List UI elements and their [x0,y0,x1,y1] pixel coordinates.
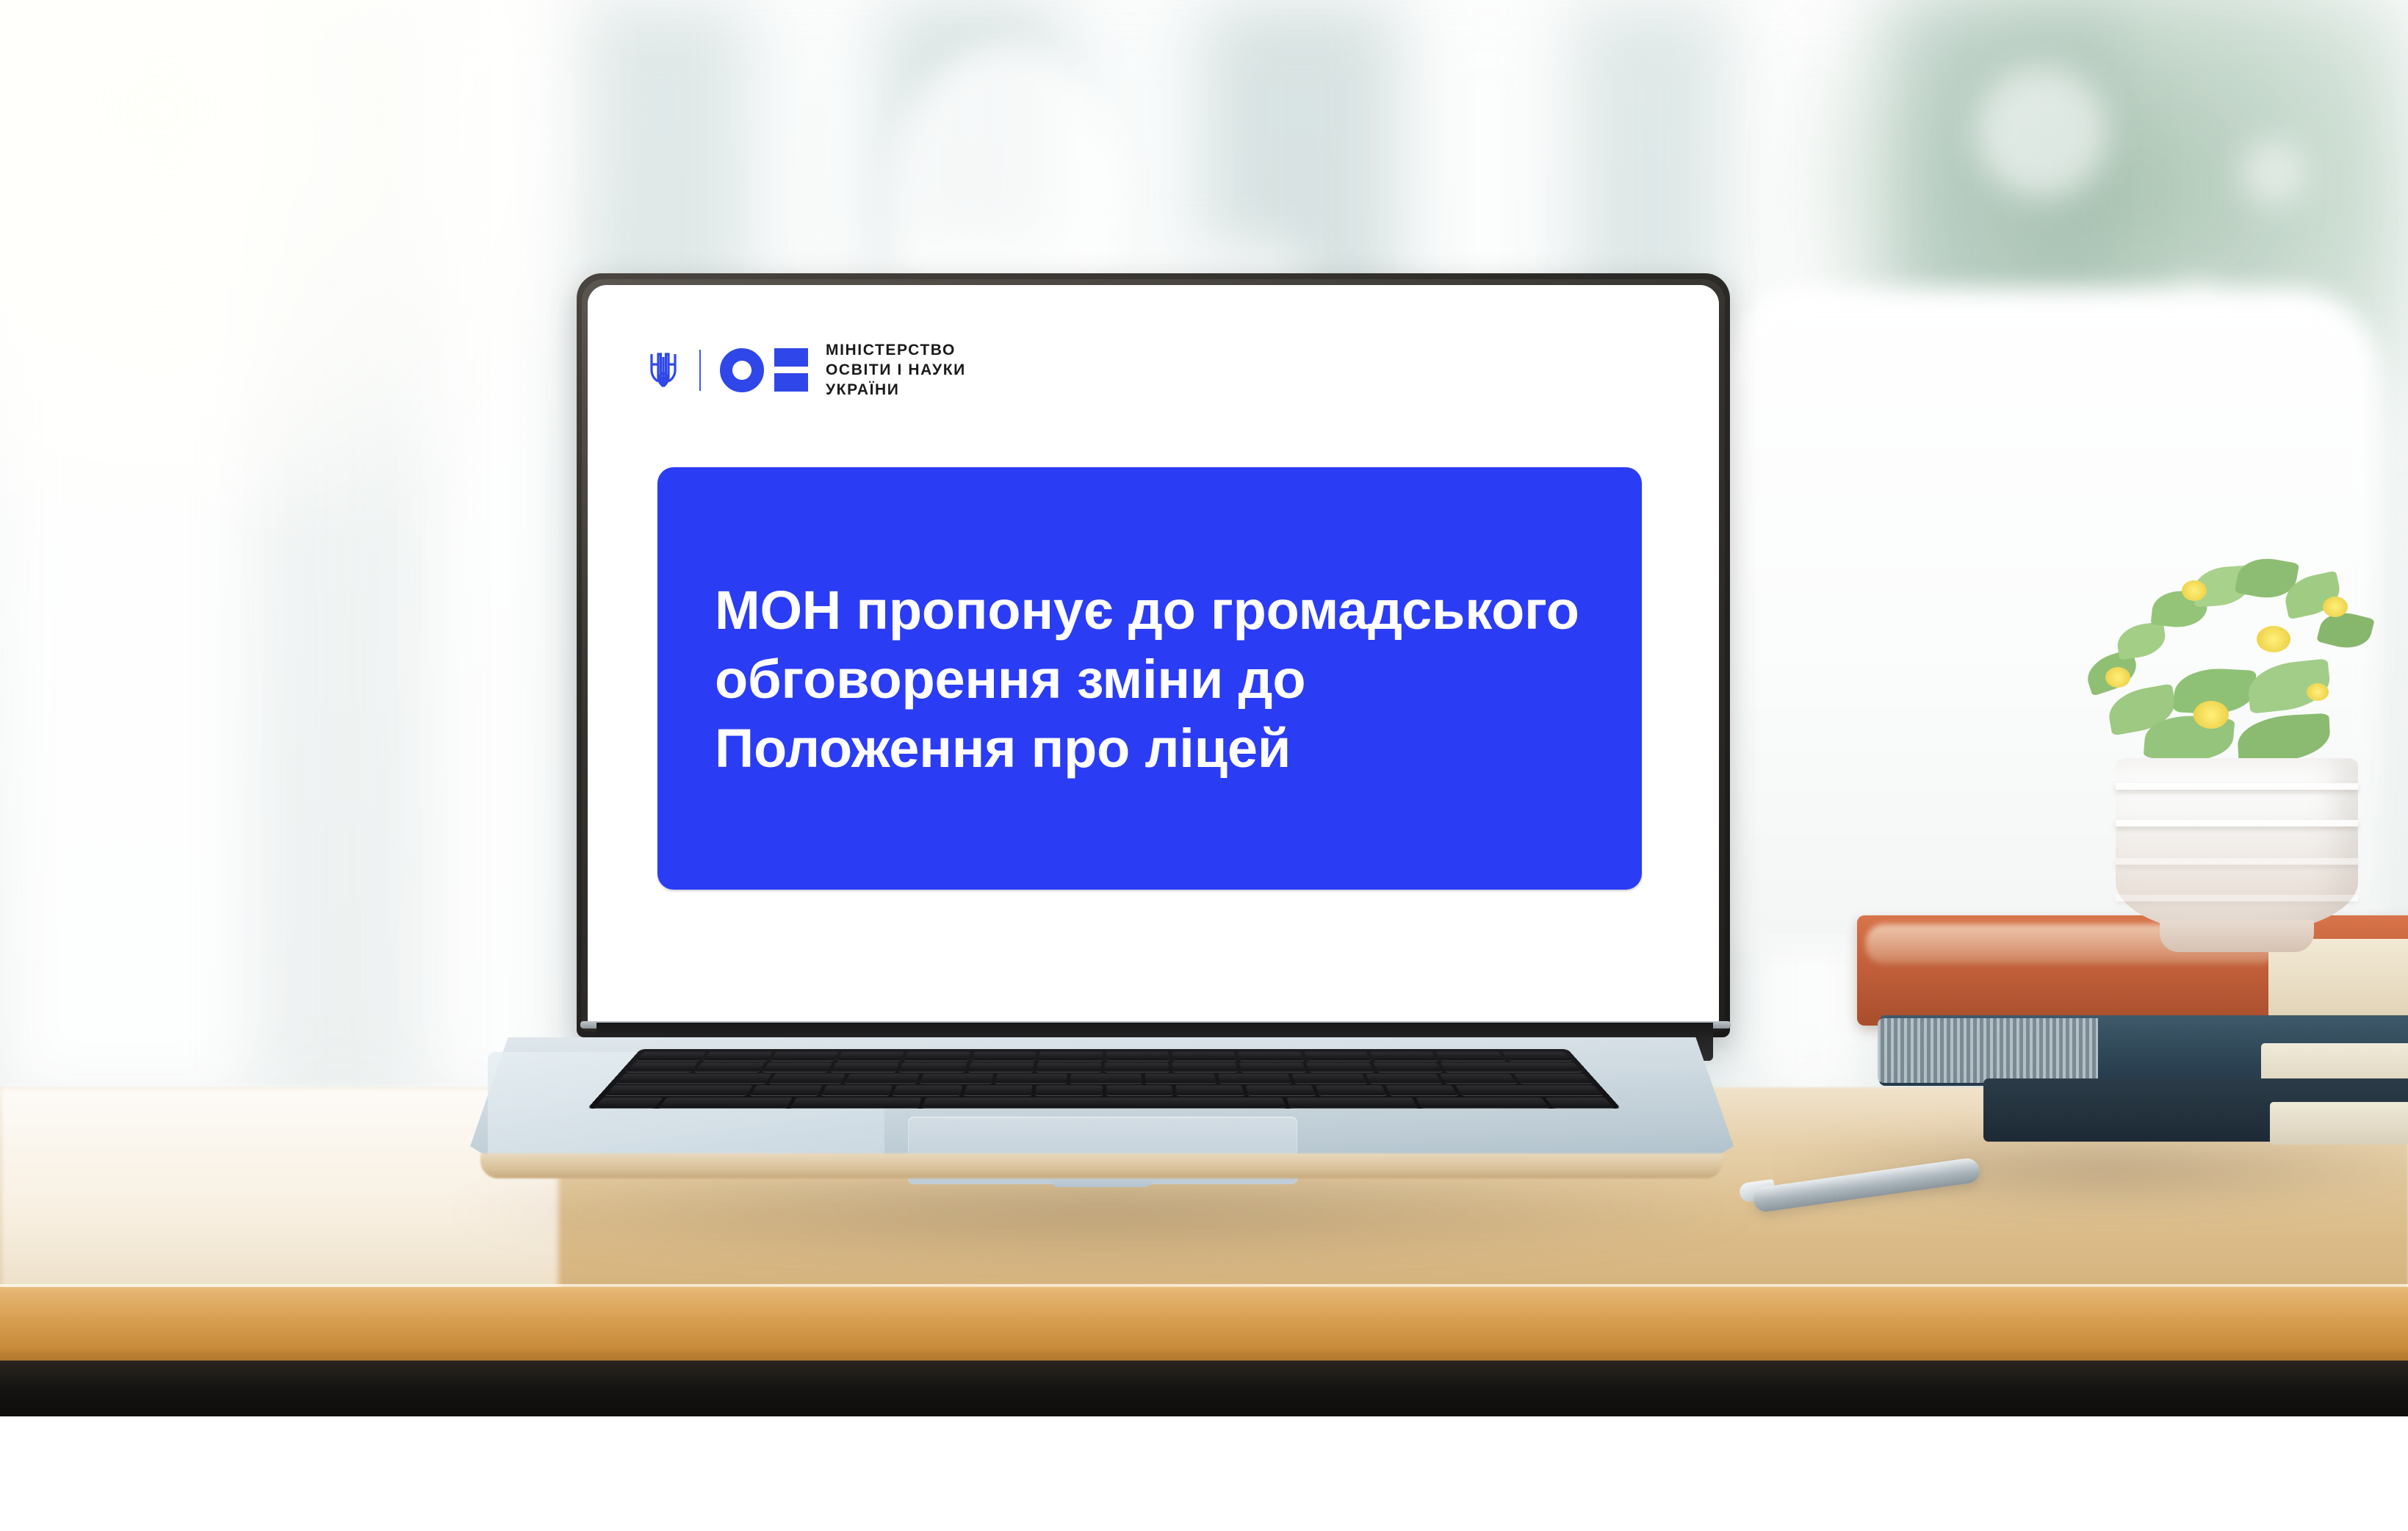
flower-2 [2182,580,2207,601]
flower-6 [2307,683,2329,701]
laptop-screen: МІНІСТЕРСТВО ОСВІТИ І НАУКИ УКРАЇНИ МОН … [588,285,1719,1027]
page-title: МОН пропонує до громадського обговорення… [715,576,1582,783]
desk-front-edge [0,1287,2408,1366]
laptop: МІНІСТЕРСТВО ОСВІТИ І НАУКИ УКРАЇНИ МОН … [470,273,1734,1199]
laptop-base-front-edge [480,1153,1723,1178]
under-desk-shadow [0,1361,2408,1416]
ukraine-trident-icon [646,348,680,392]
bokeh-dot-2 [1976,66,2108,198]
plant-pot [2116,758,2358,934]
notebook-spiral-binding [1878,1018,2098,1083]
ministry-line-2: ОСВІТИ І НАУКИ [826,362,966,378]
mon-logo[interactable]: МІНІСТЕРСТВО ОСВІТИ І НАУКИ УКРАЇНИ [646,342,966,397]
bokeh-dot-4 [2174,279,2218,323]
screenshot-root: МІНІСТЕРСТВО ОСВІТИ І НАУКИ УКРАЇНИ МОН … [0,0,2408,1531]
photo-scene: МІНІСТЕРСТВО ОСВІТИ І НАУКИ УКРАЇНИ МОН … [0,0,2408,1416]
flower-4 [2193,701,2229,729]
flower-1 [2105,667,2130,688]
bottom-white-band [0,1416,2408,1531]
mon-o-mark-icon [720,348,808,392]
laptop-keyboard[interactable] [587,1049,1621,1109]
plant-pot-base [2160,920,2314,952]
webpage: МІНІСТЕРСТВО ОСВІТИ І НАУКИ УКРАЇНИ МОН … [588,285,1719,1027]
flower-3 [2257,626,2290,652]
ministry-line-3: УКРАЇНИ [826,382,966,397]
flower-5 [2323,597,2348,617]
logo-divider [699,350,701,391]
bokeh-dot-3 [2241,140,2307,206]
headline-card[interactable]: МОН пропонує до громадського обговорення… [657,467,1642,890]
potted-plant-foliage [2064,545,2380,788]
book-dark-pages [2270,1102,2408,1145]
ministry-line-1: МІНІСТЕРСТВО [826,342,966,358]
ministry-name: МІНІСТЕРСТВО ОСВІТИ І НАУКИ УКРАЇНИ [826,342,966,397]
